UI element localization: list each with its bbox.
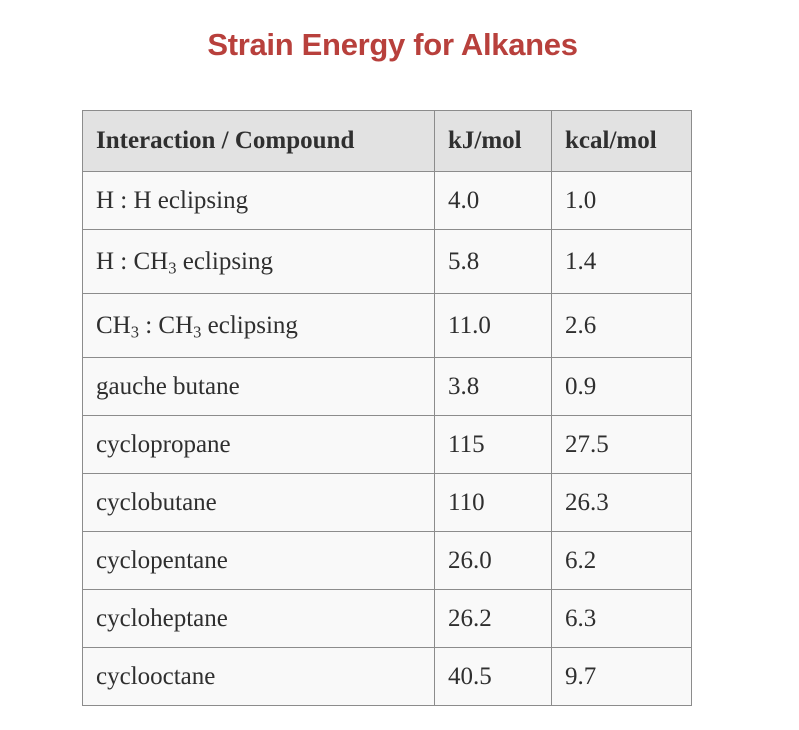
cell-kj-per-mol: 3.8 [435,358,552,416]
cell-interaction-compound: cyclopentane [83,532,435,590]
compound-label: cycloheptane [96,605,228,632]
cell-kj-per-mol: 40.5 [435,648,552,706]
cell-interaction-compound: H : CH3 eclipsing [83,230,435,294]
cell-kcal-per-mol: 9.7 [552,648,692,706]
cell-kj-per-mol: 5.8 [435,230,552,294]
cell-kcal-per-mol: 6.3 [552,590,692,648]
compound-label: gauche butane [96,373,240,400]
cell-kcal-per-mol: 27.5 [552,416,692,474]
cell-kj-per-mol: 11.0 [435,294,552,358]
table-row: cyclopropane11527.5 [83,416,692,474]
strain-energy-table-container: Interaction / Compound kJ/mol kcal/mol H… [82,110,691,706]
cell-interaction-compound: gauche butane [83,358,435,416]
cell-interaction-compound: cyclopropane [83,416,435,474]
cell-kcal-per-mol: 6.2 [552,532,692,590]
cell-interaction-compound: cyclooctane [83,648,435,706]
cell-interaction-compound: CH3 : CH3 eclipsing [83,294,435,358]
table-row: cyclopentane26.06.2 [83,532,692,590]
cell-kj-per-mol: 26.2 [435,590,552,648]
compound-label: H : H eclipsing [96,187,248,214]
column-header-interaction-compound: Interaction / Compound [83,111,435,172]
cell-kj-per-mol: 4.0 [435,172,552,230]
table-row: cycloheptane26.26.3 [83,590,692,648]
compound-label: cyclooctane [96,663,215,690]
strain-energy-table: Interaction / Compound kJ/mol kcal/mol H… [82,110,692,706]
table-header-row: Interaction / Compound kJ/mol kcal/mol [83,111,692,172]
table-header: Interaction / Compound kJ/mol kcal/mol [83,111,692,172]
cell-interaction-compound: cyclobutane [83,474,435,532]
compound-label: cyclopentane [96,547,228,574]
table-row: H : H eclipsing4.01.0 [83,172,692,230]
table-row: cyclooctane40.59.7 [83,648,692,706]
table-row: H : CH3 eclipsing5.81.4 [83,230,692,294]
cell-kj-per-mol: 110 [435,474,552,532]
cell-kj-per-mol: 115 [435,416,552,474]
cell-kcal-per-mol: 1.4 [552,230,692,294]
column-header-kj-per-mol: kJ/mol [435,111,552,172]
cell-kcal-per-mol: 0.9 [552,358,692,416]
compound-label: CH3 : CH3 eclipsing [96,312,298,339]
page-root: Strain Energy for Alkanes Interaction / … [0,0,799,730]
table-body: H : H eclipsing4.01.0H : CH3 eclipsing5.… [83,172,692,706]
table-row: cyclobutane11026.3 [83,474,692,532]
cell-kcal-per-mol: 26.3 [552,474,692,532]
compound-label: cyclobutane [96,489,217,516]
table-row: gauche butane3.80.9 [83,358,692,416]
table-row: CH3 : CH3 eclipsing11.02.6 [83,294,692,358]
cell-kcal-per-mol: 2.6 [552,294,692,358]
compound-label: H : CH3 eclipsing [96,248,273,275]
compound-label: cyclopropane [96,431,231,458]
column-header-kcal-per-mol: kcal/mol [552,111,692,172]
cell-interaction-compound: cycloheptane [83,590,435,648]
cell-interaction-compound: H : H eclipsing [83,172,435,230]
cell-kcal-per-mol: 1.0 [552,172,692,230]
cell-kj-per-mol: 26.0 [435,532,552,590]
page-title: Strain Energy for Alkanes [0,27,785,63]
